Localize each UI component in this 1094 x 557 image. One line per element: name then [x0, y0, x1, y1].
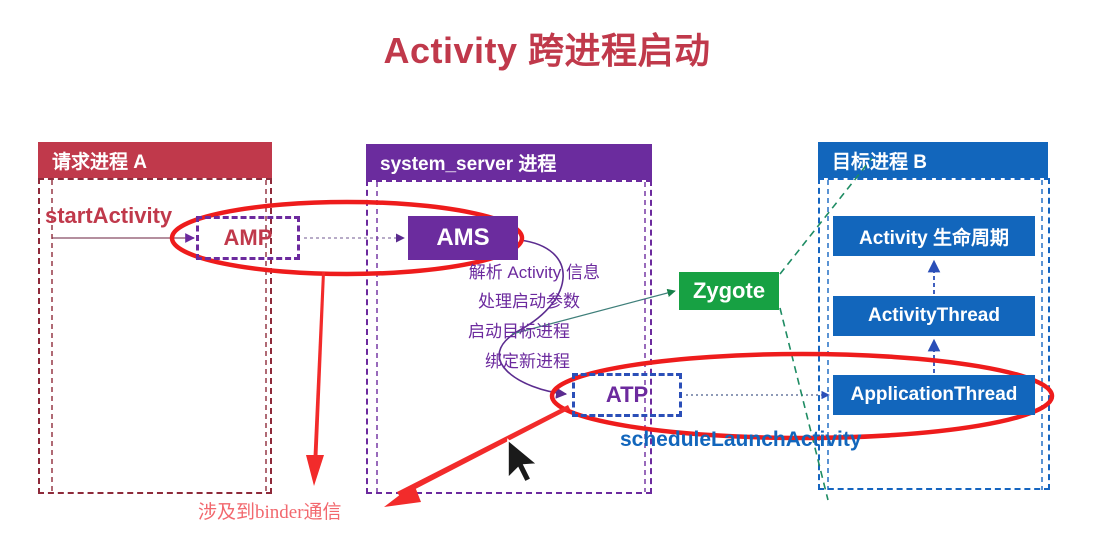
lane-system-server-header: system_server 进程 — [366, 144, 652, 180]
page-title: Activity 跨进程启动 — [0, 22, 1094, 74]
node-activity-lifecycle-label: Activity 生命周期 — [859, 223, 1009, 250]
step-note-0: 解析 Activity 信息 — [400, 258, 600, 283]
label-start-activity: startActivity — [45, 203, 172, 229]
node-amp-label: AMP — [224, 225, 273, 251]
node-activity-thread-label: ActivityThread — [868, 305, 1000, 327]
lane-target-process-b-header: 目标进程 B — [818, 142, 1048, 178]
label-binder-note: 涉及到binder通信 — [198, 497, 342, 524]
node-atp[interactable]: ATP — [572, 373, 682, 417]
step-note-2: 启动目标进程 — [370, 317, 570, 342]
step-note-1: 处理启动参数 — [380, 287, 580, 312]
node-application-thread-label: ApplicationThread — [851, 384, 1018, 406]
lane-header-label: 请求进程 A — [52, 147, 147, 174]
node-amp[interactable]: AMP — [196, 216, 300, 260]
red-arrow-down-head — [306, 455, 324, 486]
node-application-thread[interactable]: ApplicationThread — [833, 375, 1035, 415]
step-note-3: 绑定新进程 — [370, 347, 570, 372]
node-zygote-label: Zygote — [693, 278, 765, 304]
lane-header-label: 目标进程 B — [832, 147, 927, 174]
node-activity-lifecycle[interactable]: Activity 生命周期 — [833, 216, 1035, 256]
node-ams-label: AMS — [436, 224, 489, 252]
node-atp-label: ATP — [606, 382, 648, 408]
label-schedule-launch-activity: scheduleLaunchActivity — [620, 428, 862, 452]
node-activity-thread[interactable]: ActivityThread — [833, 296, 1035, 336]
node-zygote[interactable]: Zygote — [679, 272, 779, 310]
node-ams[interactable]: AMS — [408, 216, 518, 260]
red-arrow-down — [313, 272, 325, 468]
lane-header-label: system_server 进程 — [380, 149, 556, 176]
lane-request-process-a-header: 请求进程 A — [38, 142, 272, 178]
diagram-canvas: Activity 跨进程启动 请求进程 A system_server 进程 目… — [0, 0, 1094, 557]
